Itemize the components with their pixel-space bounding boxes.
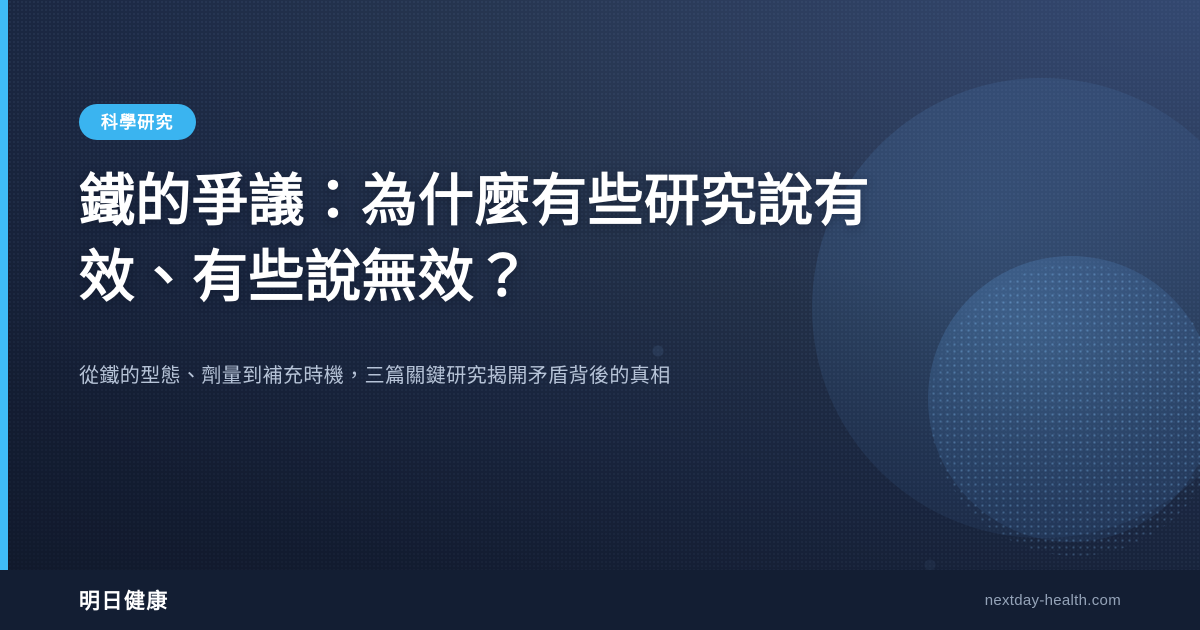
card-footer: 明日健康 nextday-health.com <box>0 570 1200 630</box>
category-badge[interactable]: 科學研究 <box>79 104 196 140</box>
card-content: 科學研究 鐵的爭議：為什麼有些研究說有效、有些說無效？ 從鐵的型態、劑量到補充時… <box>79 0 1140 570</box>
footer-site-url[interactable]: nextday-health.com <box>985 592 1121 609</box>
page-title: 鐵的爭議：為什麼有些研究說有效、有些說無效？ <box>79 163 899 315</box>
footer-brand-name: 明日健康 <box>79 585 169 615</box>
social-share-card: 科學研究 鐵的爭議：為什麼有些研究說有效、有些說無效？ 從鐵的型態、劑量到補充時… <box>0 0 1200 630</box>
page-subtitle: 從鐵的型態、劑量到補充時機，三篇關鍵研究揭開矛盾背後的真相 <box>79 360 879 392</box>
left-accent-bar <box>0 0 8 570</box>
